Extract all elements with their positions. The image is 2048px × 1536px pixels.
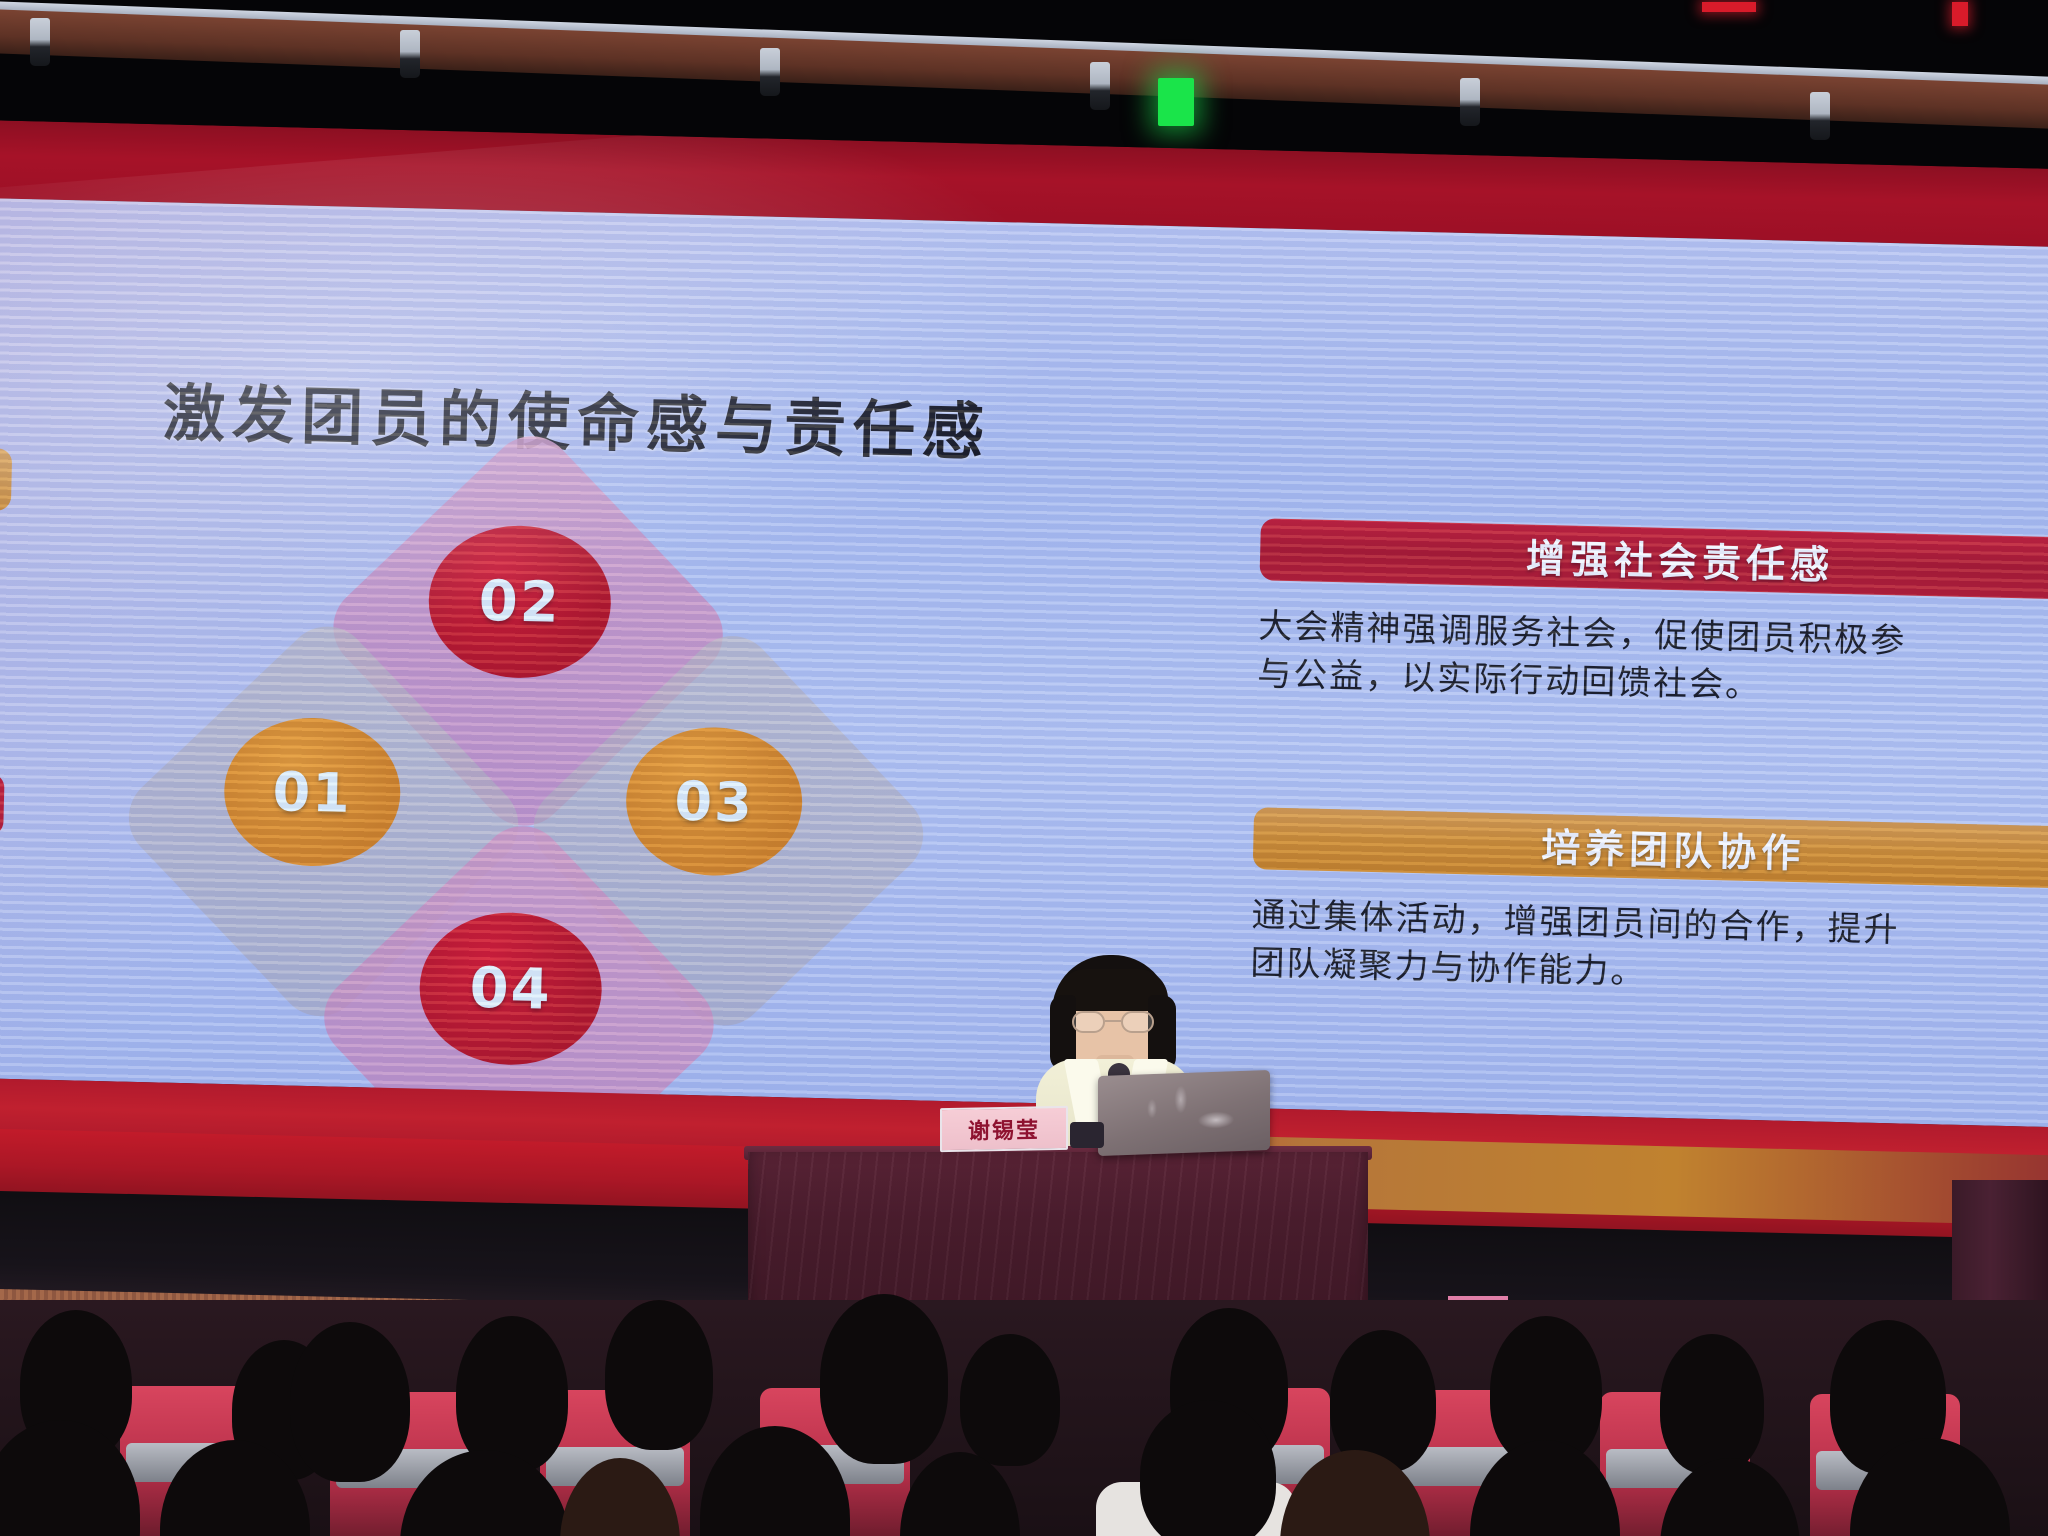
badge-03-label: 03: [674, 769, 755, 834]
laptop: [1098, 1070, 1270, 1156]
badge-01-label: 01: [272, 760, 353, 825]
ceiling-red-light: [1702, 2, 1756, 12]
glasses-bridge: [1105, 1020, 1121, 1022]
audience-head: [820, 1294, 948, 1464]
glasses-lens-right: [1121, 1011, 1154, 1033]
card-spacer: [1254, 699, 2048, 827]
laptop-floral-decal: [1104, 1076, 1264, 1150]
left-card-banner-2: [0, 769, 5, 835]
ceiling-red-light: [1952, 2, 1968, 26]
glasses-lens-left: [1072, 1011, 1105, 1033]
audience-head: [605, 1300, 713, 1450]
badge-04-label: 04: [469, 955, 552, 1022]
right-card-column: 增强社会责任感 大会精神强调服务社会，促使团员积极参 与公益，以实际行动回馈社会…: [1250, 518, 2048, 1007]
ceiling-spotlight: [400, 30, 420, 78]
ceiling-spotlight: [1460, 78, 1480, 126]
audience-head: [456, 1316, 568, 1472]
nameplate: 谢锡莹: [940, 1106, 1068, 1152]
card-body-social-responsibility: 大会精神强调服务社会，促使团员积极参 与公益，以实际行动回馈社会。: [1257, 602, 2048, 718]
exit-sign-icon: [1158, 78, 1194, 126]
card-heading-social-responsibility: 增强社会责任感: [1260, 518, 2048, 600]
left-card-text-2: 等: [0, 877, 2, 930]
nameplate-text: 谢锡莹: [968, 1112, 1040, 1145]
audience-head: [1660, 1334, 1764, 1474]
desk-object: [1070, 1122, 1104, 1148]
auditorium-scene: 激发团员的使命感与责任感 02 01 03 04: [0, 0, 2048, 1536]
card-heading-text: 培养团队协作: [1541, 817, 1806, 879]
ceiling-spotlight: [1090, 62, 1110, 110]
ceiling-spotlight: [1810, 92, 1830, 140]
audience-area: [0, 1300, 2048, 1536]
audience-head: [960, 1334, 1060, 1466]
card-body-team-collaboration: 通过集体活动，增强团员间的合作，提升 团队凝聚力与协作能力。: [1250, 891, 2048, 1007]
audience-head: [290, 1322, 410, 1482]
ceiling-spotlight: [760, 48, 780, 96]
ceiling-spotlight: [30, 18, 50, 66]
glasses-icon: [1072, 1011, 1154, 1033]
card-heading-text: 增强社会责任感: [1525, 528, 1834, 591]
